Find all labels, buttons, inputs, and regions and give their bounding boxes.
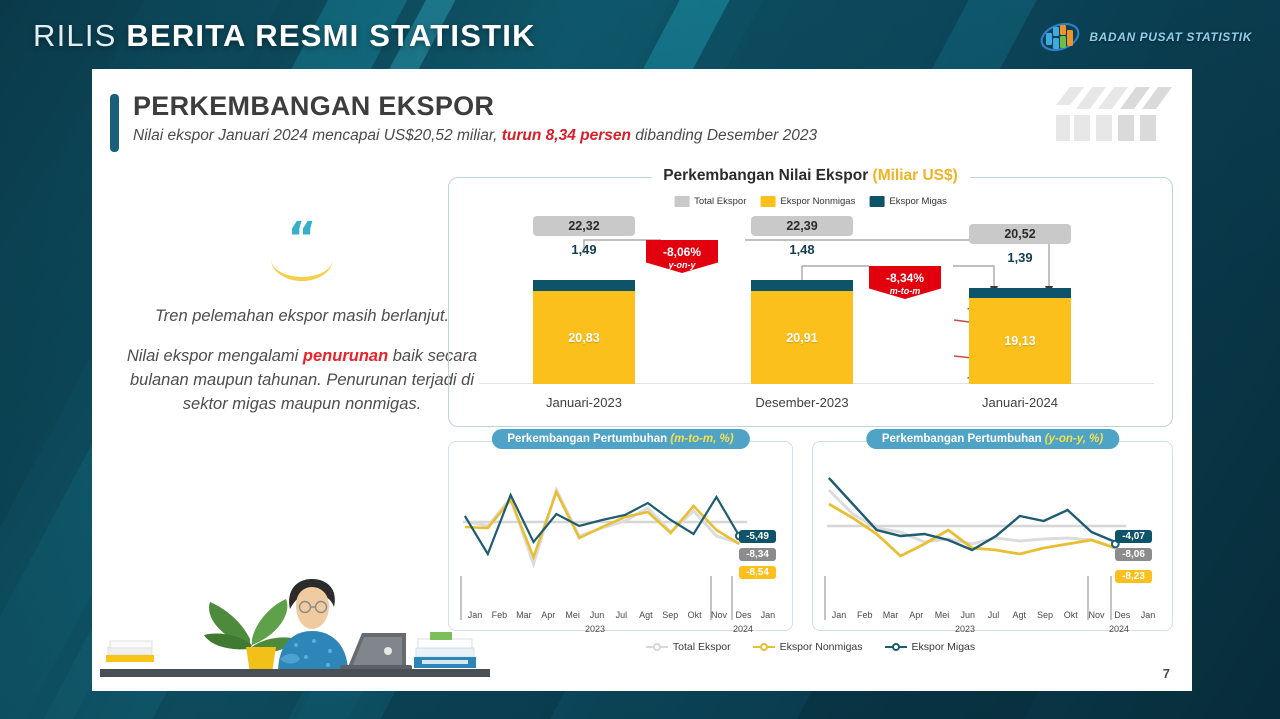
bar-migas-des-2023 xyxy=(751,280,853,291)
month-label: Mar xyxy=(881,610,901,620)
badge-yoy-value: -8,06% xyxy=(646,245,718,259)
endlabel-total-mtom: -8,34 xyxy=(739,548,776,561)
endlabel-nonmigas-mtom: -8,54 xyxy=(739,566,776,579)
legend-marker-total-icon xyxy=(646,642,668,652)
bottom-legend-label-migas: Ekspor Migas xyxy=(912,641,976,653)
month-label: Agt xyxy=(636,610,656,620)
month-label: Agt xyxy=(1009,610,1029,620)
bar-label-jan-2024: Januari-2024 xyxy=(969,395,1071,410)
year-label-2024-yoy: 2024 xyxy=(1109,624,1129,634)
month-label: Jan xyxy=(758,610,778,620)
legend-marker-migas-icon xyxy=(885,642,907,652)
bar-nonmigas-jan-2023: 20,83 xyxy=(533,291,635,384)
legend-marker-nonmigas-icon xyxy=(753,642,775,652)
month-label: Feb xyxy=(489,610,509,620)
month-label: Jul xyxy=(611,610,631,620)
badge-mtom-value: -8,34% xyxy=(869,271,941,285)
slide-card: PERKEMBANGAN EKSPOR Nilai ekspor Januari… xyxy=(92,69,1192,691)
bar-chart-panel: Perkembangan Nilai Ekspor (Miliar US$) T… xyxy=(448,177,1173,427)
line-chart-yoy-title: Perkembangan Pertumbuhan (y-on-y, %) xyxy=(866,429,1119,449)
endlabel-migas-yoy: -4,07 xyxy=(1115,530,1152,543)
page-title: PERKEMBANGAN EKSPOR xyxy=(133,91,817,122)
header-title-light: RILIS xyxy=(33,18,117,53)
bar-migas-jan-2024 xyxy=(969,288,1071,298)
subtitle-pre: Nilai ekspor Januari 2024 mencapai US$20… xyxy=(133,127,502,144)
migas-value-jan-2023: 1,49 xyxy=(533,242,635,257)
line-yoy-title-unit: (y-on-y, %) xyxy=(1045,433,1103,445)
line-mtom-title-unit: (m-to-m, %) xyxy=(670,433,733,445)
bar-group-jan-2023: 22,32 1,49 20,83 Januari-2023 xyxy=(533,280,635,384)
total-pill-des-2023: 22,39 xyxy=(751,216,853,236)
page-number: 7 xyxy=(1163,666,1170,681)
month-label: Feb xyxy=(855,610,875,620)
endlabel-migas-mtom: -5,49 xyxy=(739,530,776,543)
month-label: Mei xyxy=(563,610,583,620)
bps-mark-svg xyxy=(1039,20,1081,54)
migas-value-des-2023: 1,48 xyxy=(751,242,853,257)
left-papers-icon xyxy=(106,641,154,662)
month-label: Mar xyxy=(514,610,534,620)
bottom-legend-label-nonmigas: Ekspor Nonmigas xyxy=(780,641,863,653)
month-label: Jul xyxy=(984,610,1004,620)
series-migas-mtom xyxy=(465,495,739,554)
bps-logo-text: BADAN PUSAT STATISTIK xyxy=(1089,30,1252,44)
x-axis-labels-yoy: Jan Feb Mar Apr Mei Jun Jul Agt Sep Okt … xyxy=(813,610,1172,620)
bottom-legend-label-total: Total Ekspor xyxy=(673,641,731,653)
month-label: Nov xyxy=(1087,610,1107,620)
bar-label-des-2023: Desember-2023 xyxy=(751,395,853,410)
quote2-highlight: penurunan xyxy=(303,347,388,365)
month-label: Sep xyxy=(660,610,680,620)
subtitle-highlight: turun 8,34 persen xyxy=(502,127,631,144)
endlabel-total-yoy: -8,06 xyxy=(1115,548,1152,561)
endlabel-nonmigas-yoy: -8,23 xyxy=(1115,570,1152,583)
bar-nonmigas-jan-2024: 19,13 xyxy=(969,298,1071,384)
quote2-pre: Nilai ekspor mengalami xyxy=(127,347,303,365)
line-chart-panel-mtom: Perkembangan Pertumbuhan (m-to-m, %) -5,… xyxy=(448,441,793,631)
quote-paragraph-2: Nilai ekspor mengalami penurunan baik se… xyxy=(122,345,482,417)
month-label: Jan xyxy=(829,610,849,620)
desk-illustration-icon xyxy=(100,547,490,677)
slide-title-block: PERKEMBANGAN EKSPOR Nilai ekspor Januari… xyxy=(110,91,817,152)
series-nonmigas-yoy xyxy=(829,504,1115,556)
series-total-yoy xyxy=(829,490,1115,548)
bps-logo-icon xyxy=(1039,20,1081,54)
title-accent-bar xyxy=(110,94,119,152)
bottom-legend-item-nonmigas: Ekspor Nonmigas xyxy=(753,641,863,653)
person-icon xyxy=(278,579,348,673)
quote-paragraph-1: Tren pelemahan ekspor masih berlanjut. xyxy=(122,305,482,329)
bar-migas-jan-2023 xyxy=(533,280,635,291)
header-title-bold: BERITA RESMI STATISTIK xyxy=(126,18,535,53)
line-charts-legend: Total Ekspor Ekspor Nonmigas Ekspor Miga… xyxy=(448,641,1173,653)
line-mtom-title-text: Perkembangan Pertumbuhan xyxy=(507,433,670,445)
year-label-2023-mtom: 2023 xyxy=(585,624,605,634)
header-title: RILIS BERITA RESMI STATISTIK xyxy=(33,18,536,54)
month-label: Des xyxy=(733,610,753,620)
month-label: Okt xyxy=(685,610,705,620)
line-yoy-title-text: Perkembangan Pertumbuhan xyxy=(882,433,1045,445)
year-label-2024-mtom: 2024 xyxy=(733,624,753,634)
line-chart-panel-yoy: Perkembangan Pertumbuhan (y-on-y, %) -4,… xyxy=(812,441,1173,631)
decorative-pattern-icon xyxy=(1054,83,1174,145)
month-label: Jan xyxy=(1138,610,1158,620)
bps-logo: BADAN PUSAT STATISTIK xyxy=(1039,20,1252,54)
migas-value-jan-2024: 1,39 xyxy=(969,250,1071,265)
total-pill-jan-2024: 20,52 xyxy=(969,224,1071,244)
subtitle-post: dibanding Desember 2023 xyxy=(631,127,817,144)
bar-label-jan-2023: Januari-2023 xyxy=(533,395,635,410)
quote-mark-icon: “ xyxy=(122,224,482,255)
month-label: Apr xyxy=(906,610,926,620)
desk-surface xyxy=(100,669,490,677)
page-subtitle: Nilai ekspor Januari 2024 mencapai US$20… xyxy=(133,127,817,145)
month-label: Okt xyxy=(1061,610,1081,620)
bottom-legend-item-total: Total Ekspor xyxy=(646,641,731,653)
line-chart-mtom-title: Perkembangan Pertumbuhan (m-to-m, %) xyxy=(491,429,749,449)
bar-nonmigas-des-2023: 20,91 xyxy=(751,291,853,384)
total-pill-jan-2023: 22,32 xyxy=(533,216,635,236)
quote-column: “ Tren pelemahan ekspor masih berlanjut.… xyxy=(122,224,482,416)
month-label: Jan xyxy=(465,610,485,620)
bar-group-des-2023: 22,39 1,48 20,91 Desember-2023 xyxy=(751,280,853,384)
laptop-icon xyxy=(340,633,412,671)
month-label: Mei xyxy=(932,610,952,620)
month-label: Nov xyxy=(709,610,729,620)
month-labels-mtom: Jan Feb Mar Apr Mei Jun Jul Agt Sep Okt … xyxy=(449,610,792,620)
year-label-2023-yoy: 2023 xyxy=(955,624,975,634)
month-label: Sep xyxy=(1035,610,1055,620)
month-label: Jun xyxy=(587,610,607,620)
month-label: Apr xyxy=(538,610,558,620)
month-label: Jun xyxy=(958,610,978,620)
x-axis-labels-mtom: Jan Feb Mar Apr Mei Jun Jul Agt Sep Okt … xyxy=(449,610,792,620)
month-label: Des xyxy=(1112,610,1132,620)
bar-group-jan-2024: 20,52 1,39 19,13 Januari-2024 xyxy=(969,288,1071,384)
bottom-legend-item-migas: Ekspor Migas xyxy=(885,641,976,653)
month-labels-yoy: Jan Feb Mar Apr Mei Jun Jul Agt Sep Okt … xyxy=(813,610,1172,620)
